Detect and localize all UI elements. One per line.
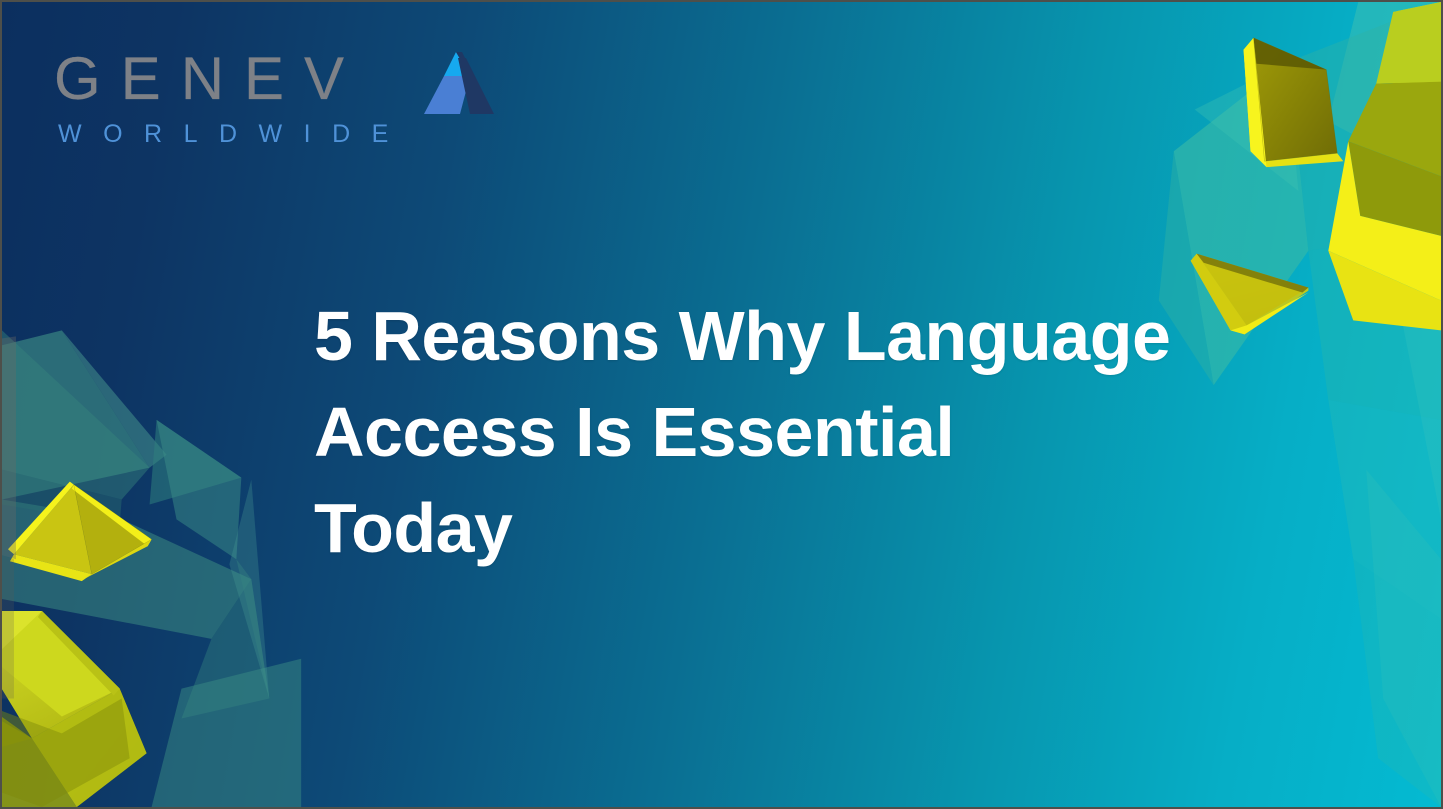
title-line-1: 5 Reasons Why Language: [314, 288, 1214, 384]
logo-tagline: WORLDWIDE: [58, 122, 410, 147]
left-edge-slivers: [2, 336, 16, 698]
logo-wordmark-text: GENEV: [54, 49, 364, 109]
gold-quad-top-right: [1244, 38, 1344, 167]
stylized-letter-a-icon: [414, 52, 500, 114]
gold-pyramid-left: [8, 482, 152, 582]
title-line-3: Today: [314, 480, 1214, 576]
slide-title: 5 Reasons Why Language Access Is Essenti…: [314, 288, 1214, 576]
lime-octahedron-bottom-left: [2, 611, 147, 807]
logo: GENEV WORLDWIDE: [54, 48, 454, 164]
presentation-slide: GENEV WORLDWIDE 5 Reasons Why Language A…: [0, 0, 1443, 809]
top-right-lime-pyramid: [1328, 2, 1441, 330]
title-line-2: Access Is Essential: [314, 384, 1214, 480]
left-teal-facets: [2, 330, 301, 807]
logo-wordmark-container: GENEV: [54, 48, 364, 110]
